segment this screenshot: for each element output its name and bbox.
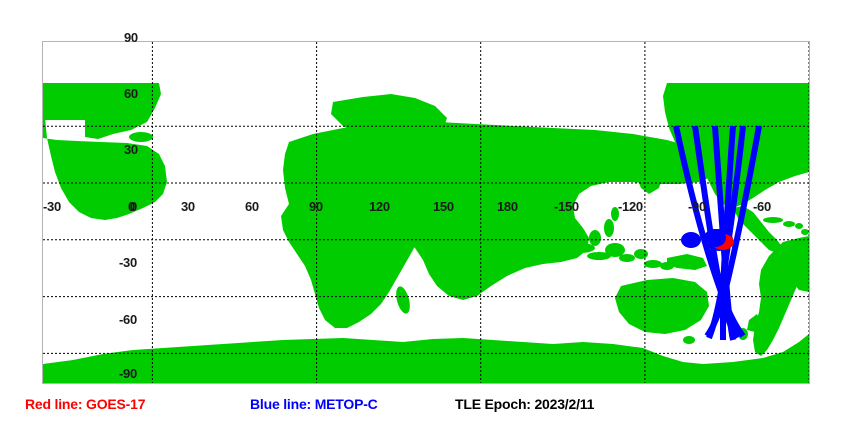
legend: Red line: GOES-17 Blue line: METOP-C TLE… — [0, 396, 850, 420]
land-tasmania — [683, 336, 695, 344]
legend-entry-metop-c: Blue line: METOP-C — [250, 396, 378, 412]
legend-tle-epoch: TLE Epoch: 2023/2/11 — [455, 396, 594, 412]
lon-tick-label-m120: -120 — [618, 199, 643, 214]
land-antarctica-base — [43, 368, 809, 383]
land-australia — [615, 278, 709, 334]
lat-tick-label-60: 60 — [124, 86, 138, 101]
satellite-ground-track-map: 90 60 30 0 -30 -60 -90 -30 0 30 60 90 12… — [0, 0, 850, 425]
lat-tick-label-m30: -30 — [119, 255, 137, 270]
lon-tick-label-m90: -90 — [688, 199, 706, 214]
lon-tick-label-60: 60 — [245, 199, 259, 214]
land-caribbean — [763, 217, 809, 235]
lon-tick-label-0: 0 — [128, 199, 135, 214]
land-iceland — [129, 132, 153, 142]
land-anatolia — [387, 178, 441, 198]
lat-tick-label-m60: -60 — [119, 312, 137, 327]
lon-tick-label-120: 120 — [369, 199, 390, 214]
lon-tick-label-30: 30 — [181, 199, 195, 214]
lat-tick-label-m90: -90 — [119, 366, 137, 381]
lon-tick-label-m30: -30 — [43, 199, 61, 214]
land-arctic-canada — [43, 83, 85, 120]
lon-tick-label-m60: -60 — [753, 199, 771, 214]
metop-c-marker — [681, 232, 701, 248]
lon-tick-label-180: 180 — [497, 199, 518, 214]
lon-tick-label-90: 90 — [309, 199, 323, 214]
lat-tick-label-30: 30 — [124, 142, 138, 157]
metop-c-marker-overlap — [704, 229, 726, 247]
lat-tick-label-90: 90 — [124, 30, 138, 45]
lon-tick-label-150: 150 — [433, 199, 454, 214]
land-madagascar — [394, 285, 413, 315]
lon-tick-label-m150: -150 — [554, 199, 579, 214]
legend-entry-goes-17: Red line: GOES-17 — [25, 396, 145, 412]
land-greenland — [85, 83, 161, 139]
